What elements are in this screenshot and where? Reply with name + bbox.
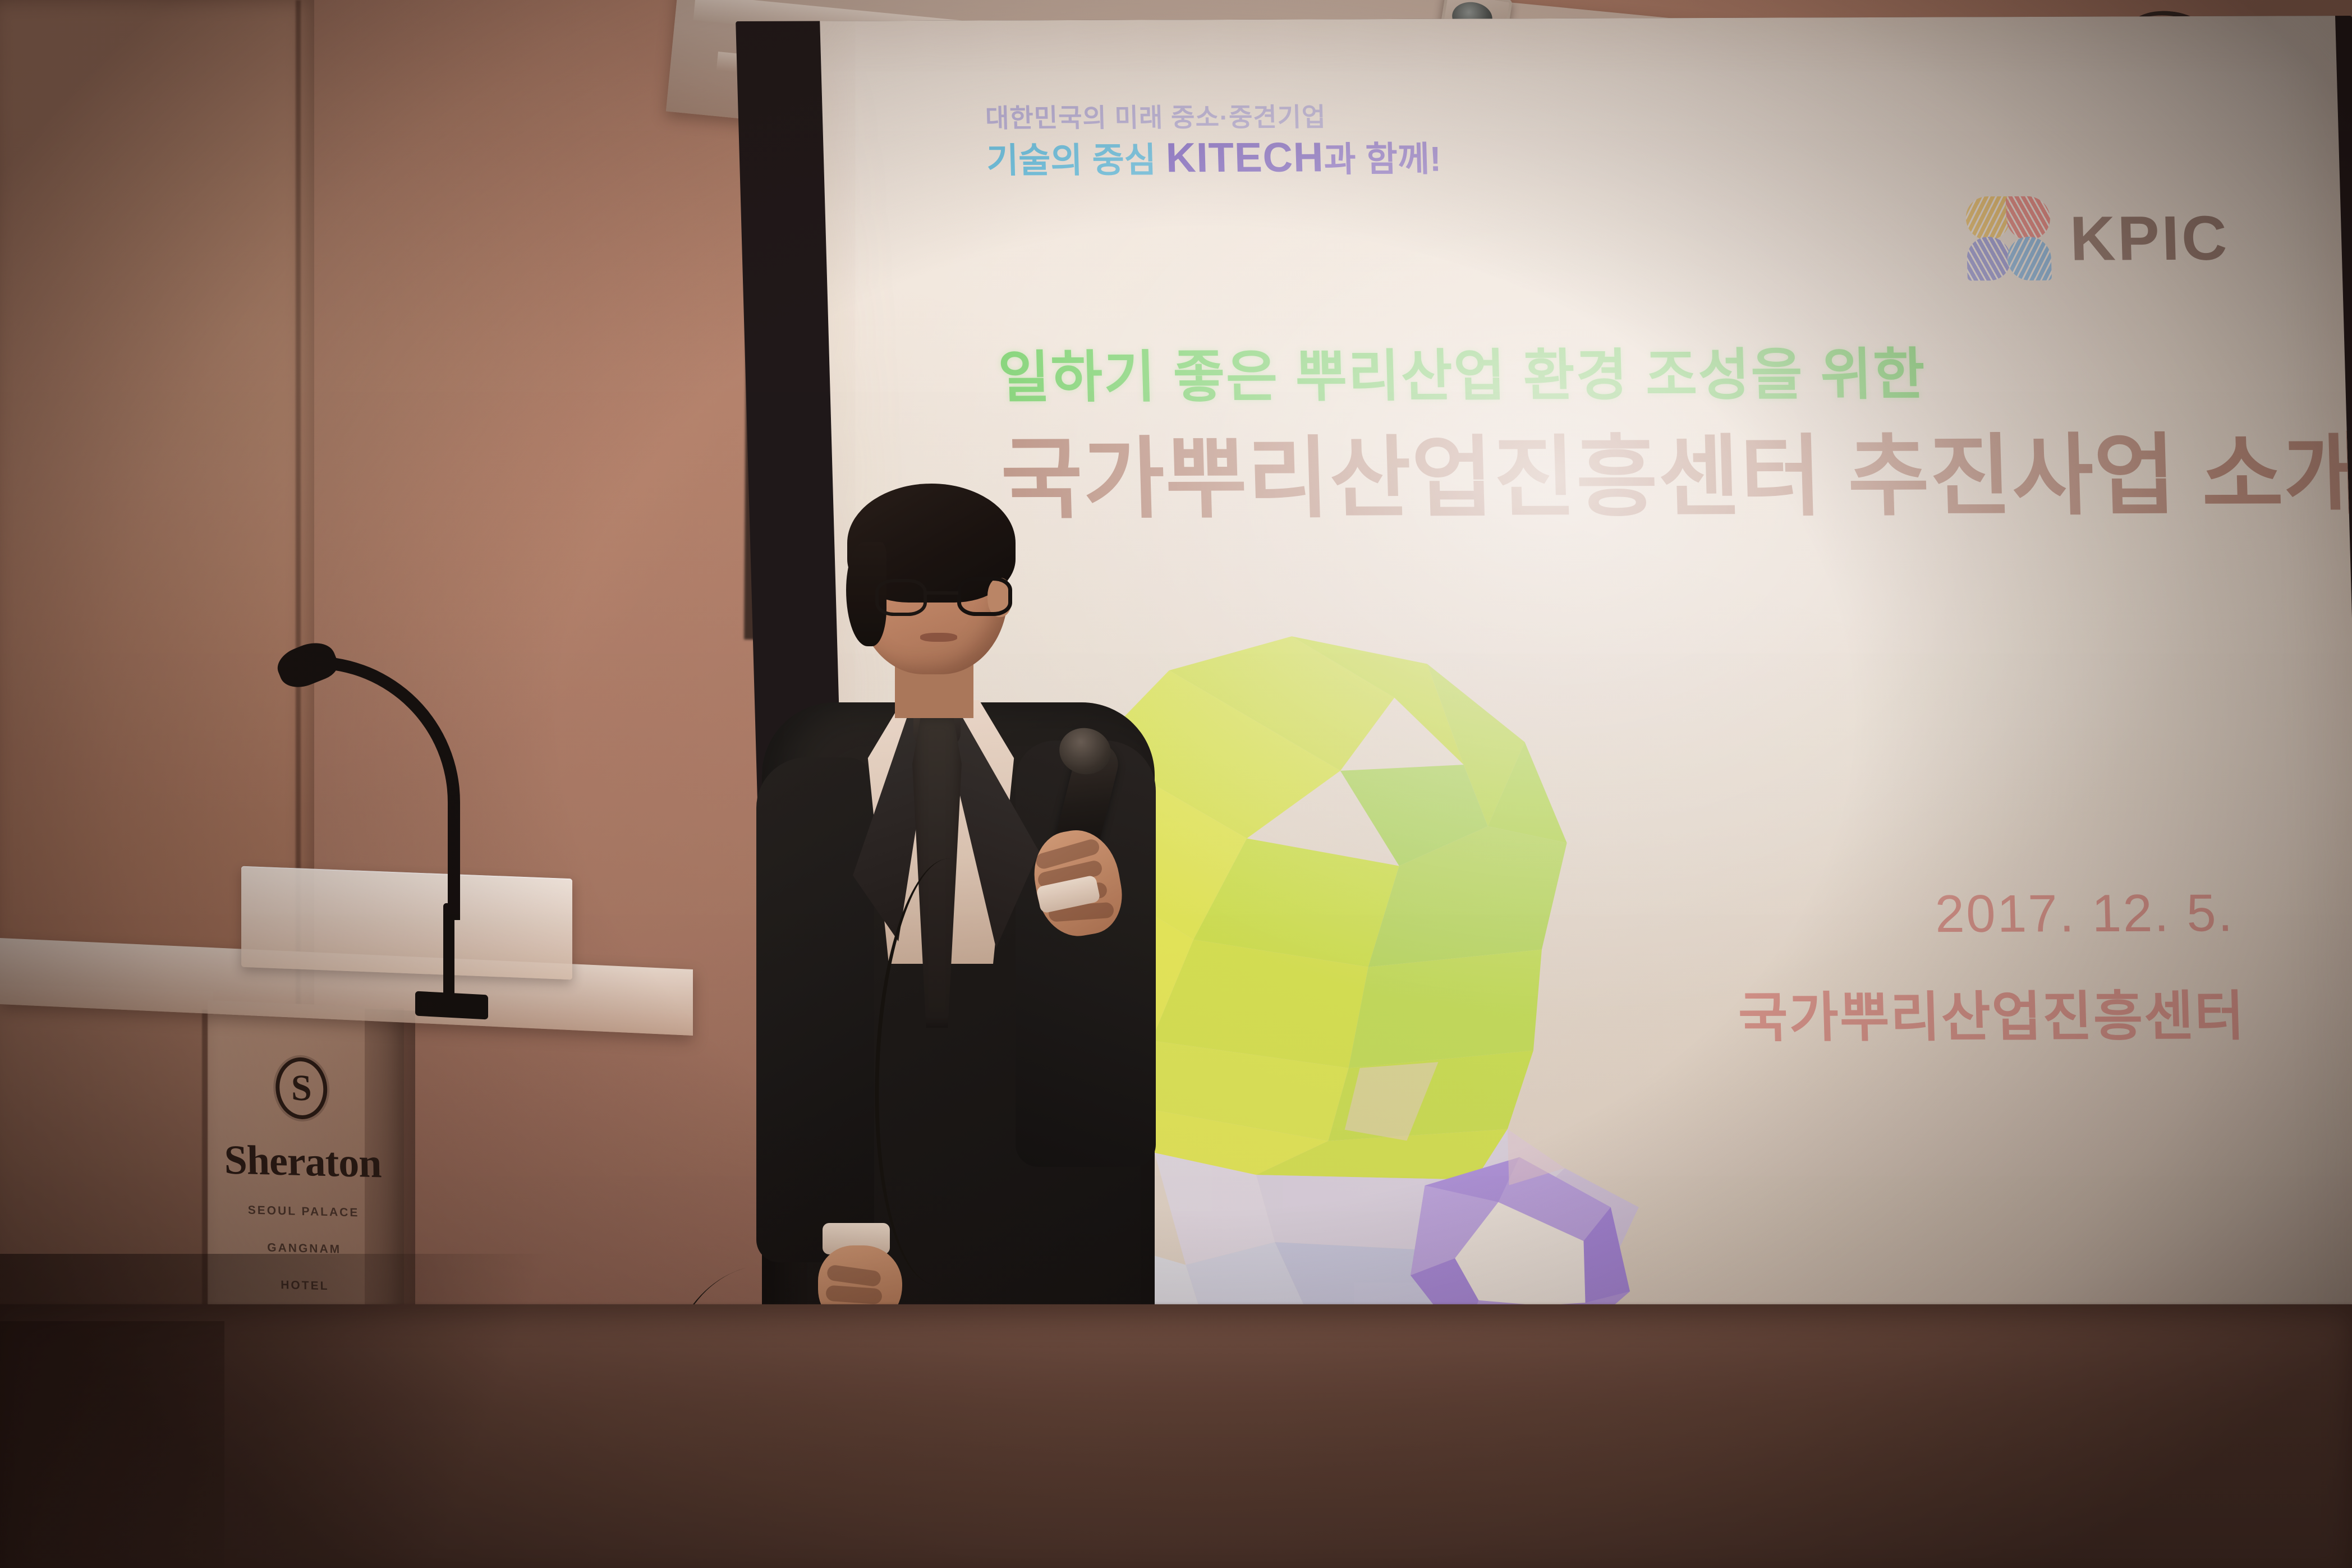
slide-organization: 국가뿌리산업진흥센터: [1737, 972, 2246, 1052]
eyeglass-lens-left: [875, 579, 927, 616]
presenter-mouth: [920, 633, 957, 642]
sheraton-monogram-icon: S: [275, 1057, 328, 1120]
kpic-logo: KPIC: [1965, 196, 2230, 281]
pinwheel-petal-red: [2006, 196, 2051, 240]
pinwheel-petal-purple: [1967, 237, 2011, 281]
tagline-line-2: 기술의 중심 KITECH과 함께!: [986, 134, 1442, 181]
tagline-cyan-text: 기술의 중심: [986, 141, 1166, 180]
tagline-line-1: 대한민국의 미래 중소·중견기업: [985, 103, 1440, 132]
corner-shadow: [0, 1321, 224, 1568]
pinwheel-petal-yellow: [1965, 196, 2010, 240]
presentation-photo-scene: 대한민국의 미래 중소·중견기업 기술의 중심 KITECH과 함께! KPIC…: [0, 0, 2352, 1568]
eyeglass-lens-right: [957, 577, 1012, 616]
kitech-tagline: 대한민국의 미래 중소·중견기업 기술의 중심 KITECH과 함께!: [985, 103, 1441, 181]
slide-title: 국가뿌리산업진흥센터 추진사업 소개: [999, 403, 2352, 536]
kpic-pinwheel-icon: [1965, 196, 2052, 281]
sheraton-wordmark: Sheraton: [218, 1136, 387, 1188]
kitech-wordmark: KITECH: [1165, 134, 1325, 181]
kpic-wordmark: KPIC: [2069, 201, 2230, 274]
eyeglasses-icon: [872, 576, 1013, 617]
presenter-left-arm: [756, 757, 874, 1262]
pinwheel-petal-blue: [2007, 237, 2052, 281]
slide-date: 2017. 12. 5.: [1934, 882, 2235, 944]
slide-subtitle: 일하기 좋은 뿌리산업 환경 조성을 위한: [997, 328, 1927, 413]
tagline-tail-text: 과 함께!: [1324, 140, 1442, 179]
eyeglass-bridge: [926, 591, 958, 595]
venue-sub-line-1: SEOUL PALACE: [219, 1198, 388, 1225]
